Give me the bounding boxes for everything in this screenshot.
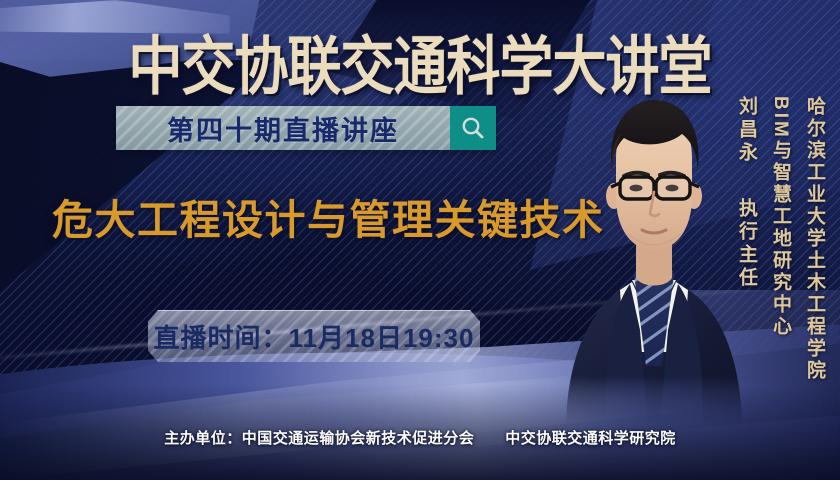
- page-title: 中交协联交通科学大讲堂: [0, 14, 840, 107]
- speaker-name: 刘昌永: [733, 96, 760, 165]
- search-button[interactable]: [450, 106, 496, 150]
- episode-banner: 第四十期直播讲座: [116, 106, 496, 150]
- footer: 主办单位：中国交通运输协会新技术促进分会 中交协联交通科学研究院: [0, 427, 840, 448]
- speaker-portrait: [556, 84, 746, 424]
- speaker-research-center-prefix: BIM: [770, 96, 791, 140]
- search-icon: [460, 115, 486, 141]
- episode-label: 第四十期直播讲座: [167, 109, 399, 148]
- speaker-research-center-suffix: 与智慧工地研究中心: [770, 140, 791, 338]
- footer-organizers: 主办单位：中国交通运输协会新技术促进分会 中交协联交通科学研究院: [164, 427, 676, 448]
- speaker-role: 执行主任: [733, 198, 760, 290]
- live-lecture-poster: 中交协联交通科学大讲堂 第四十期直播讲座 危大工程设计与管理关键技术 直播时间：…: [0, 0, 840, 480]
- episode-banner-body: 第四十期直播讲座: [116, 106, 450, 150]
- broadcast-time-badge: 直播时间：11月18日19:30: [148, 310, 480, 362]
- broadcast-time-label: 直播时间：11月18日19:30: [154, 318, 475, 355]
- speaker-research-center: BIM与智慧工地研究中心: [767, 96, 796, 338]
- lecture-title: 危大工程设计与管理关键技术: [52, 186, 605, 246]
- speaker-affiliation: 哈尔滨工业大学土木工程学院: [801, 96, 828, 382]
